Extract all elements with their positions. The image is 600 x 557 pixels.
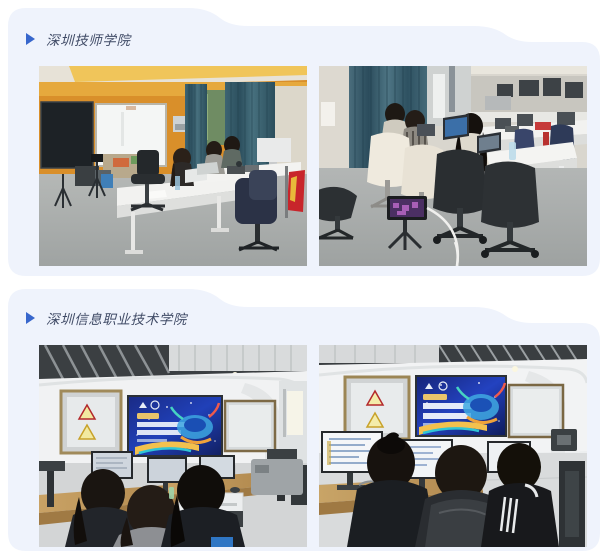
classroom-orange-wall-photo[interactable]	[39, 66, 307, 266]
section-title: 深圳技师学院	[46, 29, 131, 49]
play-triangle-icon	[26, 33, 35, 45]
section-card: 深圳信息职业技术学院	[8, 285, 600, 551]
section-title: 深圳信息职业技术学院	[46, 308, 187, 328]
photo-row	[8, 345, 600, 547]
smart-classroom-screen-photo[interactable]	[39, 345, 307, 547]
students-watching-screen-photo[interactable]	[319, 345, 587, 547]
section-header: 深圳技师学院	[8, 16, 600, 62]
section-card: 深圳技师学院	[8, 4, 600, 276]
photo-gallery-page: 深圳技师学院	[0, 0, 600, 557]
section-header: 深圳信息职业技术学院	[8, 295, 600, 341]
computer-lab-tripod-photo[interactable]	[319, 66, 587, 266]
play-triangle-icon	[26, 312, 35, 324]
photo-row	[8, 66, 600, 266]
